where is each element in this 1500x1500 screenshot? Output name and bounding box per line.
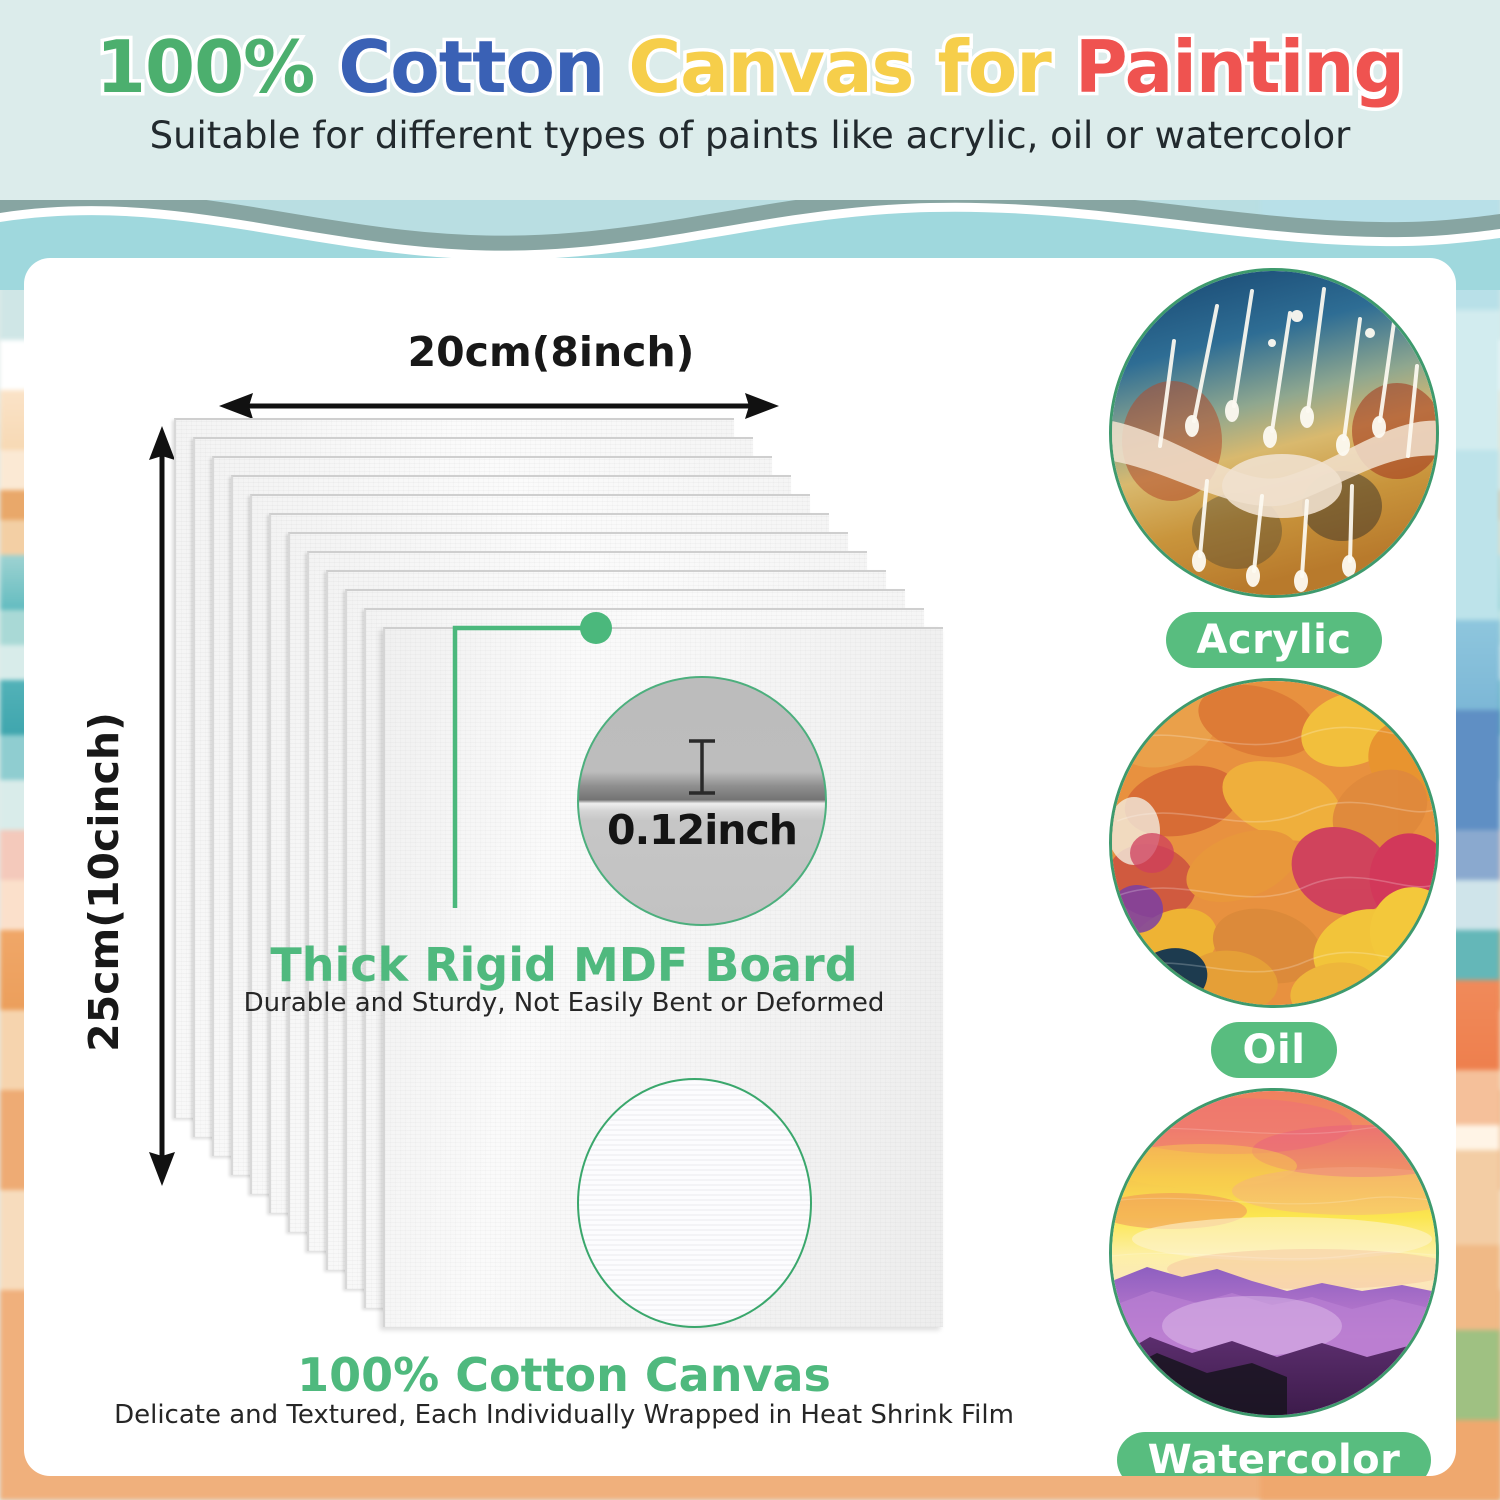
mdf-thickness-callout: 0.12inch <box>577 676 827 926</box>
cotton-subtitle: Delicate and Textured, Each Individually… <box>104 1400 1024 1430</box>
title-part-2: Canvas for <box>628 25 1075 109</box>
title-part-0: 100% <box>96 25 339 109</box>
oil-badge[interactable]: Oil <box>1211 1022 1337 1078</box>
main-content-card: 20cm(8inch) 25cm(10cinch) <box>24 258 1456 1476</box>
mdf-subtitle: Durable and Sturdy, Not Easily Bent or D… <box>154 988 974 1018</box>
page-title: 100% Cotton Canvas for Painting <box>0 30 1500 106</box>
mdf-thickness-value: 0.12inch <box>579 806 825 854</box>
page-subtitle: Suitable for different types of paints l… <box>0 114 1500 157</box>
cotton-title: 100% Cotton Canvas <box>154 1348 974 1402</box>
acrylic-artwork <box>1112 271 1439 598</box>
oil-artwork <box>1112 681 1439 1008</box>
watercolor-artwork <box>1112 1091 1439 1418</box>
watercolor-swatch-image <box>1109 1088 1439 1418</box>
page-header: 100% Cotton Canvas for Painting Suitable… <box>0 0 1500 200</box>
watercolor-badge[interactable]: Watercolor <box>1117 1432 1431 1476</box>
cotton-texture-callout <box>577 1078 812 1328</box>
infographic-page: 100% Cotton Canvas for Painting Suitable… <box>0 0 1500 1500</box>
paint-type-list: Acrylic <box>1094 268 1454 1468</box>
height-dimension-label: 25cm(10cinch) <box>80 702 128 1062</box>
paint-type-oil[interactable]: Oil <box>1109 678 1439 1078</box>
thickness-measure-icon <box>685 738 719 796</box>
mdf-title: Thick Rigid MDF Board <box>174 938 954 992</box>
width-dimension-label: 20cm(8inch) <box>331 328 771 376</box>
oil-swatch-image <box>1109 678 1439 1008</box>
title-part-3: Painting <box>1075 25 1404 109</box>
acrylic-swatch-image <box>1109 268 1439 598</box>
paint-type-watercolor[interactable]: Watercolor <box>1109 1088 1439 1476</box>
acrylic-badge[interactable]: Acrylic <box>1166 612 1382 668</box>
title-part-1: Cotton <box>338 25 628 109</box>
paint-type-acrylic[interactable]: Acrylic <box>1109 268 1439 668</box>
